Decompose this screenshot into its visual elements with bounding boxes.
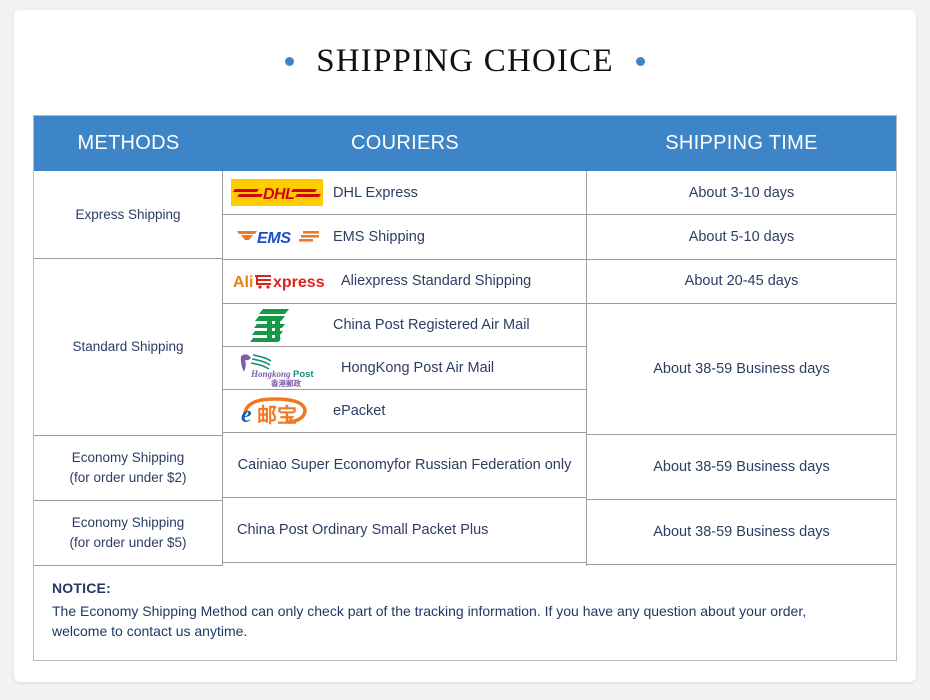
method-note: (for order under $5) bbox=[69, 533, 186, 553]
time-cell-standard-group: About 38-59 Business days bbox=[587, 304, 896, 435]
method-label: Express Shipping bbox=[75, 205, 180, 225]
dhl-logo: DHL bbox=[231, 179, 323, 206]
method-cell-express: Express Shipping bbox=[34, 171, 222, 259]
method-cell-economy-5: Economy Shipping (for order under $5) bbox=[34, 501, 222, 566]
method-cell-standard: Standard Shipping bbox=[34, 259, 222, 436]
column-header-methods: METHODS bbox=[34, 132, 223, 155]
time-cell-china-post-ordinary: About 38-59 Business days bbox=[587, 500, 896, 565]
method-cell-economy-2: Economy Shipping (for order under $2) bbox=[34, 436, 222, 501]
svg-text:邮宝: 邮宝 bbox=[257, 403, 297, 427]
page-title: SHIPPING CHOICE bbox=[14, 10, 916, 113]
china-post-logo bbox=[231, 305, 323, 345]
time-cell-aliexpress: About 20-45 days bbox=[587, 260, 896, 304]
shipping-times-column: About 3-10 days About 5-10 days About 20… bbox=[587, 171, 896, 566]
courier-label: Aliexpress Standard Shipping bbox=[341, 273, 531, 289]
notice-heading: NOTICE: bbox=[52, 580, 896, 596]
courier-row-china-post: China Post Registered Air Mail bbox=[223, 304, 586, 347]
ems-logo: EMS bbox=[231, 223, 323, 250]
couriers-and-times: DHL DHL Express bbox=[223, 171, 897, 566]
notice-body: The Economy Shipping Method can only che… bbox=[52, 601, 842, 642]
column-header-couriers: COURIERS bbox=[223, 132, 587, 155]
courier-row-ems: EMS EMS Shipping bbox=[223, 215, 586, 259]
svg-text:Ali: Ali bbox=[233, 274, 253, 291]
time-cell-dhl: About 3-10 days bbox=[587, 171, 896, 215]
courier-label: DHL Express bbox=[333, 185, 418, 201]
method-label: Standard Shipping bbox=[72, 337, 183, 357]
shipping-table: METHODS COURIERS SHIPPING TIME Express S… bbox=[33, 115, 897, 661]
bullet-dot-icon bbox=[636, 57, 645, 66]
svg-text:EMS: EMS bbox=[257, 230, 291, 247]
svg-text:xpress: xpress bbox=[273, 274, 325, 291]
table-body: Express Shipping Standard Shipping Econo… bbox=[34, 171, 896, 566]
page-title-text: SHIPPING CHOICE bbox=[316, 43, 614, 80]
shipping-choice-card: SHIPPING CHOICE METHODS COURIERS SHIPPIN… bbox=[14, 10, 916, 682]
courier-label: HongKong Post Air Mail bbox=[341, 360, 494, 376]
method-note: (for order under $2) bbox=[69, 468, 186, 488]
time-cell-cainiao: About 38-59 Business days bbox=[587, 435, 896, 500]
courier-row-epacket: e 邮宝 ePacket bbox=[223, 390, 586, 433]
aliexpress-logo: Ali xpress bbox=[231, 269, 331, 293]
hongkong-post-logo: Hongkong Post 香港郵政 bbox=[231, 348, 331, 388]
svg-text:DHL: DHL bbox=[263, 186, 294, 203]
notice-section: NOTICE: The Economy Shipping Method can … bbox=[34, 566, 896, 660]
courier-label: ePacket bbox=[333, 403, 385, 419]
svg-text:Hongkong: Hongkong bbox=[250, 369, 291, 379]
courier-row-hongkong-post: Hongkong Post 香港郵政 HongKong Post Air Mai… bbox=[223, 347, 586, 390]
method-label: Economy Shipping bbox=[72, 513, 185, 533]
couriers-column: DHL DHL Express bbox=[223, 171, 587, 566]
courier-label: China Post Registered Air Mail bbox=[333, 317, 530, 333]
bullet-dot-icon bbox=[285, 57, 294, 66]
courier-row-aliexpress: Ali xpress Aliexpress Standard Shipping bbox=[223, 260, 586, 304]
column-header-shipping-time: SHIPPING TIME bbox=[587, 132, 896, 155]
courier-row-cainiao: Cainiao Super Economyfor Russian Federat… bbox=[223, 433, 586, 498]
table-header-row: METHODS COURIERS SHIPPING TIME bbox=[34, 116, 896, 171]
epacket-logo: e 邮宝 bbox=[231, 393, 323, 429]
method-label: Economy Shipping bbox=[72, 448, 185, 468]
courier-row-china-post-ordinary: China Post Ordinary Small Packet Plus bbox=[223, 498, 586, 563]
courier-label: EMS Shipping bbox=[333, 229, 425, 245]
courier-row-dhl: DHL DHL Express bbox=[223, 171, 586, 215]
svg-text:e: e bbox=[241, 402, 252, 428]
svg-text:香港郵政: 香港郵政 bbox=[270, 378, 301, 388]
methods-column: Express Shipping Standard Shipping Econo… bbox=[34, 171, 223, 566]
time-cell-ems: About 5-10 days bbox=[587, 215, 896, 259]
